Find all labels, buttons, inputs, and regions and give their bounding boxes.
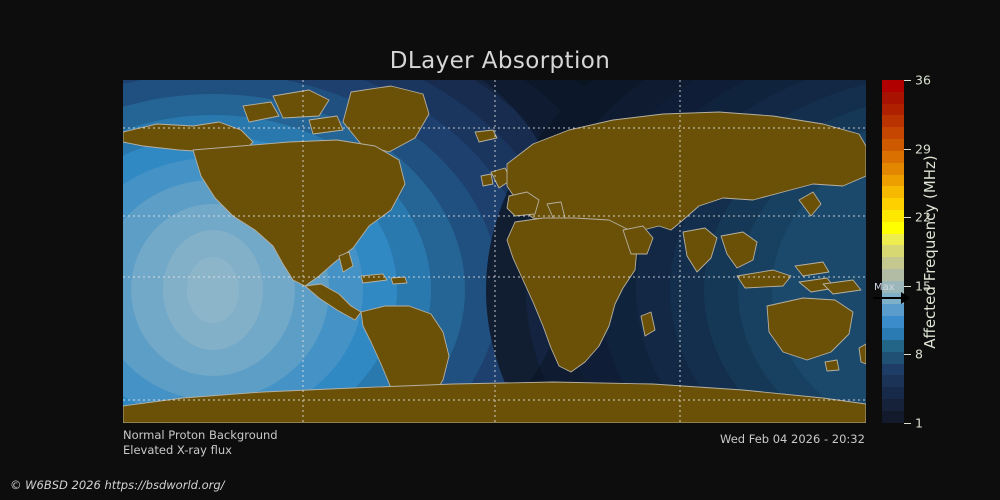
colorbar-band bbox=[882, 210, 904, 222]
page-title: DLayer Absorption bbox=[0, 48, 1000, 74]
colorbar-band bbox=[882, 163, 904, 175]
colorbar-band bbox=[882, 115, 904, 127]
colorbar-band bbox=[882, 399, 904, 411]
colorbar[interactable] bbox=[882, 80, 904, 423]
colorbar-band bbox=[882, 245, 904, 257]
colorbar-band bbox=[882, 186, 904, 198]
max-arrow-head-icon bbox=[901, 292, 910, 304]
colorbar-band bbox=[882, 387, 904, 399]
colorbar-band bbox=[882, 104, 904, 116]
colorbar-tick-mark bbox=[904, 217, 911, 218]
colorbar-band bbox=[882, 411, 904, 423]
footer-copyright: © W6BSD 2026 https://bsdworld.org/ bbox=[10, 478, 225, 492]
colorbar-tick-mark bbox=[904, 354, 911, 355]
colorbar-max-marker: Max bbox=[871, 282, 917, 308]
status-proton-line: Normal Proton Background bbox=[123, 428, 278, 443]
colorbar-band bbox=[882, 257, 904, 269]
timestamp: Wed Feb 04 2026 - 20:32 bbox=[720, 432, 865, 446]
colorbar-band bbox=[882, 340, 904, 352]
colorbar-band bbox=[882, 151, 904, 163]
colorbar-tick-mark bbox=[904, 80, 911, 81]
dlayer-absorption-map-app: DLayer Absorption bbox=[0, 0, 1000, 500]
colorbar-band bbox=[882, 127, 904, 139]
colorbar-band bbox=[882, 92, 904, 104]
colorbar-band bbox=[882, 352, 904, 364]
colorbar-band bbox=[882, 316, 904, 328]
colorbar-axis-label: Affected Frequency (MHz) bbox=[915, 80, 945, 423]
colorbar-axis-label-text: Affected Frequency (MHz) bbox=[921, 155, 939, 349]
colorbar-tick-mark bbox=[904, 423, 911, 424]
colorbar-band bbox=[882, 80, 904, 92]
colorbar-band bbox=[882, 375, 904, 387]
max-arrow-shaft bbox=[873, 297, 903, 299]
colorbar-band bbox=[882, 269, 904, 281]
colorbar-band bbox=[882, 198, 904, 210]
colorbar-tick-mark bbox=[904, 149, 911, 150]
world-map-panel bbox=[123, 80, 866, 423]
colorbar-band bbox=[882, 364, 904, 376]
colorbar-max-label: Max bbox=[874, 282, 895, 293]
colorbar-band bbox=[882, 222, 904, 234]
status-xray-line: Elevated X-ray flux bbox=[123, 443, 278, 458]
status-block: Normal Proton Background Elevated X-ray … bbox=[123, 428, 278, 458]
colorbar-band bbox=[882, 175, 904, 187]
colorbar-band bbox=[882, 328, 904, 340]
colorbar-band bbox=[882, 139, 904, 151]
world-map-svg bbox=[123, 80, 866, 423]
colorbar-band bbox=[882, 234, 904, 246]
